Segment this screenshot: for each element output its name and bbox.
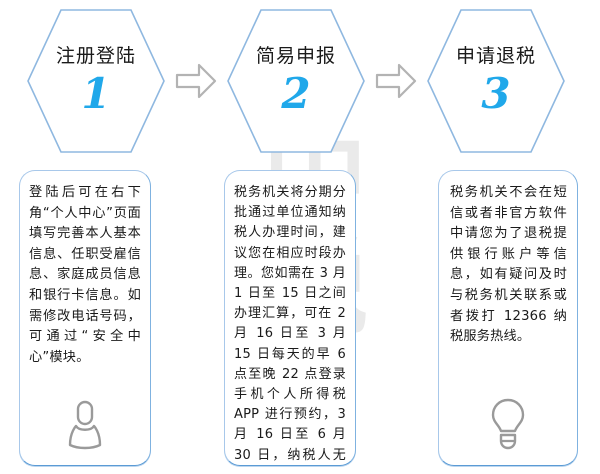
- step-number: 1: [56, 73, 136, 115]
- info-card-icon-slot: [439, 397, 577, 451]
- user-person-icon: [62, 399, 108, 451]
- info-card-register[interactable]: 登陆后可在右下角“个人中心”页面填写完善本人基本信息、任职受雇信息、家庭成员信息…: [19, 170, 151, 466]
- step-badge-1-content: 注册登陆 1: [56, 47, 136, 115]
- info-card-text: 税务机关不会在短信或者非官方软件中请您为了退税提供银行账户等信息，如有疑问及时与…: [439, 171, 577, 348]
- step-badge-1[interactable]: 注册登陆 1: [26, 8, 166, 154]
- step-number: 2: [256, 73, 336, 115]
- step-badge-2[interactable]: 简易申报 2: [226, 8, 366, 154]
- step-arrow-2: [366, 8, 426, 154]
- info-card-text: 登陆后可在右下角“个人中心”页面填写完善本人基本信息、任职受雇信息、家庭成员信息…: [20, 171, 150, 368]
- step-title: 注册登陆: [56, 47, 136, 66]
- step-title: 申请退税: [456, 47, 536, 66]
- info-card-refund[interactable]: 税务机关不会在短信或者非官方软件中请您为了退税提供银行账户等信息，如有疑问及时与…: [438, 170, 578, 466]
- info-card-declaration[interactable]: 税务机关将分期分批通过单位通知纳税人办理时间，建议您在相应时段办理。您如需在 3…: [224, 170, 356, 466]
- step-title: 简易申报: [256, 47, 336, 66]
- arrow-right-icon: [175, 62, 217, 100]
- lightbulb-idea-icon: [487, 397, 529, 451]
- step-badge-3[interactable]: 申请退税 3: [426, 8, 566, 154]
- step-badge-3-content: 申请退税 3: [456, 47, 536, 115]
- info-card-icon-slot: [20, 399, 150, 451]
- step-badge-2-content: 简易申报 2: [256, 47, 336, 115]
- step-number: 3: [456, 73, 536, 115]
- info-card-text: 税务机关将分期分批通过单位通知纳税人办理时间，建议您在相应时段办理。您如需在 3…: [225, 171, 355, 466]
- info-cards-row: 登陆后可在右下角“个人中心”页面填写完善本人基本信息、任职受雇信息、家庭成员信息…: [0, 170, 600, 468]
- process-steps-row: 注册登陆 1 简易申报 2 申请退税 3: [0, 6, 600, 156]
- step-arrow-1: [166, 8, 226, 154]
- arrow-right-icon: [375, 62, 417, 100]
